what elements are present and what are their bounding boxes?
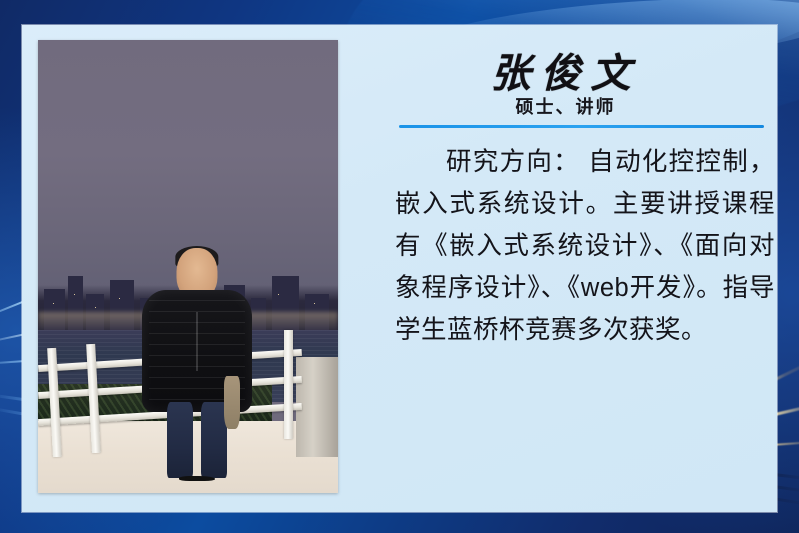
photo-stone-pillar	[296, 357, 338, 457]
profile-photo	[38, 40, 338, 493]
photo-railing-post	[284, 330, 293, 439]
section-divider	[399, 125, 764, 128]
photo-person-leg	[167, 402, 193, 478]
photo-jacket-zipper	[196, 312, 198, 371]
photo-person-shoe	[185, 476, 215, 481]
photo-person-leg	[201, 402, 227, 478]
photo-person-legs	[167, 402, 226, 478]
slide-canvas: 张俊文 硕士、讲师 研究方向： 自动化控控制， 嵌入式系统设计。主要讲授课程有《…	[0, 0, 799, 533]
content-panel: 张俊文 硕士、讲师 研究方向： 自动化控控制， 嵌入式系统设计。主要讲授课程有《…	[22, 25, 777, 512]
profile-name: 张俊文	[354, 41, 777, 99]
profile-text-column: 张俊文 硕士、讲师 研究方向： 自动化控控制， 嵌入式系统设计。主要讲授课程有《…	[354, 25, 777, 512]
profile-subtitle: 硕士、讲师	[354, 93, 777, 119]
photo-person-bag	[224, 376, 240, 430]
photo-person	[140, 248, 254, 493]
profile-bio: 研究方向： 自动化控控制， 嵌入式系统设计。主要讲授课程有《嵌入式系统设计》、《…	[395, 141, 775, 351]
